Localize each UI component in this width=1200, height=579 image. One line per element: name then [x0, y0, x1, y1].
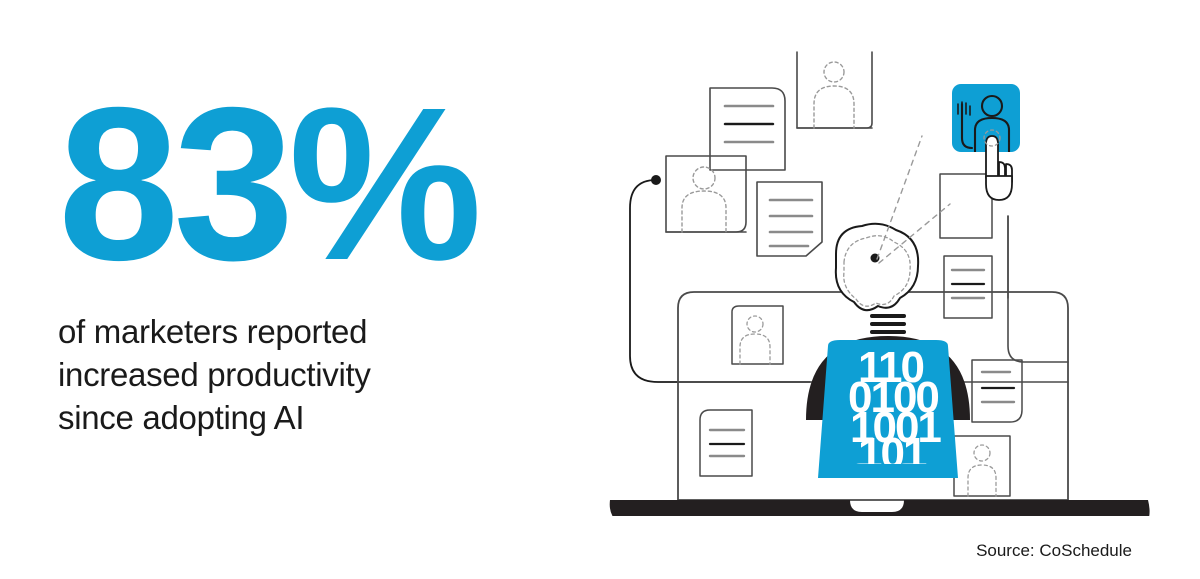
person-card-right-lower: [954, 436, 1010, 496]
person-glyph: [740, 316, 770, 364]
binary-row-5: 0101: [848, 455, 939, 504]
hand-index-finger: [986, 136, 998, 178]
person-card-left: [666, 156, 746, 232]
ai-illustration: 110 0100 1001 101 0101: [600, 16, 1170, 516]
document-card-right-mid: [944, 256, 992, 318]
caption-line-3: since adopting AI: [58, 397, 578, 440]
person-glyph: [682, 167, 726, 232]
person-glyph: [814, 62, 854, 128]
ai-illustration-svg: 110 0100 1001 101 0101: [600, 16, 1170, 516]
person-card-screen-upper: [732, 306, 783, 364]
infographic-canvas: 83% of marketers reported increased prod…: [0, 0, 1200, 579]
brain-cloud: [836, 224, 918, 310]
doc-lines: [770, 200, 812, 246]
document-card-right-lower: [972, 360, 1022, 422]
hand-connector-wire: [1008, 216, 1068, 362]
document-card-upper-left: [710, 88, 785, 170]
hand-palm: [986, 176, 1012, 200]
stat-percentage: 83%: [58, 96, 578, 275]
source-attribution: Source: CoSchedule: [976, 541, 1132, 561]
caption-line-1: of marketers reported: [58, 311, 578, 354]
document-card-center: [757, 182, 822, 256]
wire-endpoint-dot: [651, 175, 661, 185]
person-glyph: [968, 445, 996, 496]
statistic-block: 83% of marketers reported increased prod…: [58, 96, 578, 439]
document-card-screen-lower-left: [700, 410, 752, 476]
laptop-base: [610, 500, 1150, 516]
bulb-screw-base: [872, 316, 904, 332]
person-card-top: [797, 52, 872, 128]
caption-line-2: increased productivity: [58, 354, 578, 397]
